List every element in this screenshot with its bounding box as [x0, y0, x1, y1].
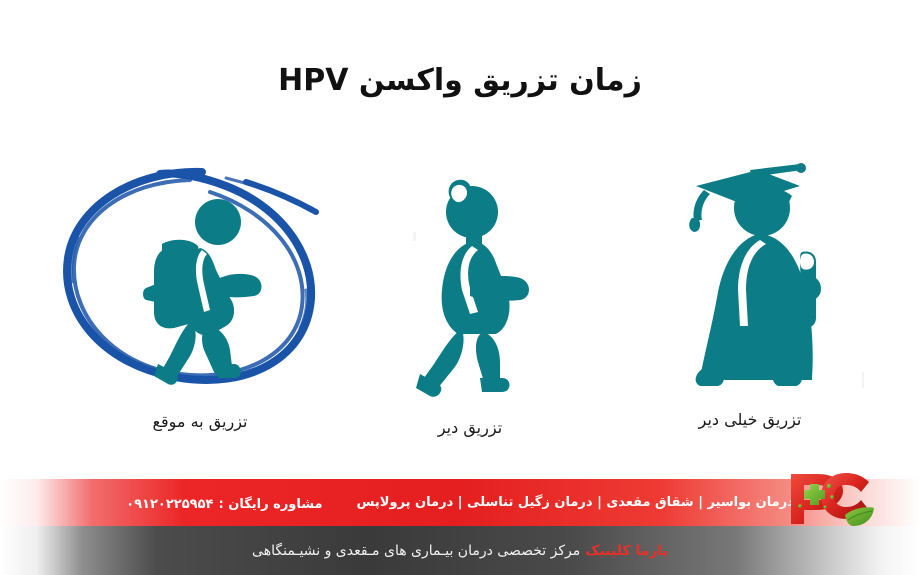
- phone-number[interactable]: ۰۹۱۲۰۲۲۵۹۵۴: [126, 497, 213, 512]
- clinic-footer-bar: پارما کلینیک مرکز تخصصی درمان بیـماری ها…: [0, 526, 920, 575]
- timing-columns: تزریق به موقع: [0, 150, 920, 450]
- column-on-time[interactable]: تزریق به موقع: [50, 150, 350, 450]
- column-very-late[interactable]: تزریق خیلی دیر: [600, 150, 900, 450]
- parma-clinic-pc-logo[interactable]: [779, 466, 875, 532]
- infographic-page: زمان تزریق واکسن HPV: [0, 0, 920, 575]
- column-late[interactable]: تزریق دیر: [320, 150, 620, 450]
- clinic-brand-name: پارما کلینیک: [585, 543, 668, 559]
- free-consultation-block[interactable]: مشاوره رایگان : ۰۹۱۲۰۲۲۵۹۵۴: [126, 493, 322, 512]
- page-title: زمان تزریق واکسن HPV: [0, 63, 920, 98]
- backpacker-walking-icon: [50, 150, 350, 400]
- consultation-label: مشاوره رایگان :: [219, 497, 323, 512]
- clinic-tagline: مرکز تخصصی درمان بیـماری های مـقعدی و نش…: [252, 543, 580, 559]
- graduate-woman-icon: [600, 150, 900, 400]
- adult-woman-walking-icon: [320, 150, 620, 400]
- caption-on-time: تزریق به موقع: [50, 412, 350, 431]
- caption-very-late: تزریق خیلی دیر: [600, 410, 900, 429]
- services-list: درمان بواسیر | شقاق مقعدی | درمان زگیل ت…: [357, 495, 794, 510]
- caption-late: تزریق دیر: [320, 418, 620, 437]
